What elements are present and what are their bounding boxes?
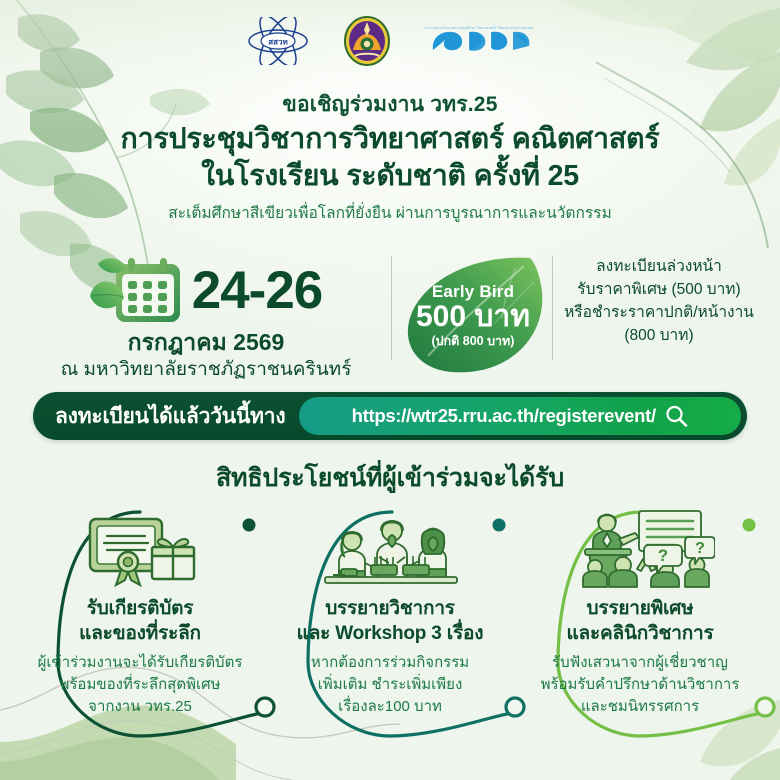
registration-note-line2: รับราคาพิเศษ (500 บาท): [545, 279, 773, 302]
benefit-card-title: รับเกียรติบัตร และของที่ระลึก: [16, 597, 264, 646]
registration-url-pill[interactable]: https://wtr25.rru.ac.th/registerevent/: [299, 397, 741, 435]
event-details-row: 24-26 กรกฎาคม 2569 ณ มหาวิทยาลัยราชภัฏรา…: [0, 250, 780, 382]
magnifier-icon[interactable]: [664, 404, 689, 429]
page-title-line2: ในโรงเรียน ระดับชาติ ครั้งที่ 25: [0, 158, 780, 195]
benefits-heading: สิทธิประโยชน์ที่ผู้เข้าร่วมจะได้รับ: [0, 458, 780, 498]
event-date-block: 24-26 กรกฎาคม 2569 ณ มหาวิทยาลัยราชภัฏรา…: [26, 250, 386, 382]
benefit-card-title: บรรยายพิเศษ และคลินิกวิชาการ: [516, 597, 764, 646]
benefit-card-certificate: รับเกียรติบัตร และของที่ระลึก ผู้เข้าร่ว…: [16, 505, 264, 718]
header-block: ขอเชิญร่วมงาน วทร.25 การประชุมวิชาการวิท…: [0, 92, 780, 225]
benefit-card-lecture: ? ? บรรยายพิเศษ และคลินิกวิชาการ รับฟังเ…: [516, 505, 764, 718]
page-subtitle: สะเต็มศึกษาสีเขียวเพื่อโลกที่ยั่งยืน ผ่า…: [0, 203, 780, 225]
benefit-card-body-line1: รับฟังเสวนาจากผู้เชี่ยวชาญ: [522, 652, 758, 674]
students-workshop-icon: [315, 507, 465, 589]
event-venue: ณ มหาวิทยาลัยราชภัฏราชนครินทร์: [26, 359, 386, 382]
logo-row: สสวท สำนักงานสภานโยบายก: [0, 16, 780, 66]
event-month-year: กรกฎาคม 2569: [26, 330, 386, 355]
question-mark-1: ?: [658, 546, 668, 565]
registration-url-text: https://wtr25.rru.ac.th/registerevent/: [352, 405, 656, 427]
registration-note-line4: (800 บาท): [545, 325, 773, 348]
registration-note-line3: หรือชำระราคาปกติ/หน้างาน: [545, 302, 773, 325]
poster-canvas: สสวท สำนักงานสภานโยบายก: [0, 0, 780, 780]
benefit-card-body: หากต้องการร่วมกิจกรรม เพิ่มเติม ชำระเพิ่…: [266, 652, 514, 717]
event-date-range: 24-26: [192, 264, 323, 321]
benefit-card-body-line2: เพิ่มเติม ชำระเพิ่มเพียง: [272, 674, 508, 696]
benefits-card-row: รับเกียรติบัตร และของที่ระลึก ผู้เข้าร่ว…: [0, 505, 780, 775]
benefit-card-body: รับฟังเสวนาจากผู้เชี่ยวชาญ พร้อมรับคำปรึ…: [516, 652, 764, 717]
benefit-card-body-line3: และชมนิทรรศการ: [522, 696, 758, 718]
benefit-card-title-line2: และ Workshop 3 เรื่อง: [266, 622, 514, 647]
benefit-card-title-line2: และของที่ระลึก: [16, 622, 264, 647]
benefit-card-title-line1: รับเกียรติบัตร: [16, 597, 264, 622]
rru-seal-logo: [343, 16, 391, 66]
ipst-atom-logo: สสวท: [247, 17, 309, 65]
early-bird-label: Early Bird: [432, 283, 514, 300]
divider-left: [391, 256, 392, 360]
early-bird-note: (ปกติ 800 บาท): [432, 335, 515, 348]
benefit-card-body-line1: หากต้องการร่วมกิจกรรม: [272, 652, 508, 674]
benefit-card-body-line2: พร้อมของที่ระลึกสุดพิเศษ: [22, 674, 258, 696]
benefit-card-body-line3: จากงาน วทร.25: [22, 696, 258, 718]
registration-url-label: ลงทะเบียนได้แล้ววันนี้ทาง: [55, 400, 285, 433]
lecture-audience-icon: ? ?: [565, 507, 715, 589]
calendar-leaf-icon: [90, 250, 186, 334]
registration-note: ลงทะเบียนล่วงหน้า รับราคาพิเศษ (500 บาท)…: [545, 256, 773, 348]
benefit-card-title: บรรยายวิชาการ และ Workshop 3 เรื่อง: [266, 597, 514, 646]
benefit-card-body-line1: ผู้เข้าร่วมงานจะได้รับเกียรติบัตร: [22, 652, 258, 674]
benefit-card-workshop: บรรยายวิชาการ และ Workshop 3 เรื่อง หากต…: [266, 505, 514, 718]
registration-url-bar[interactable]: ลงทะเบียนได้แล้ววันนี้ทาง https://wtr25.…: [33, 392, 747, 440]
benefit-card-body: ผู้เข้าร่วมงานจะได้รับเกียรติบัตร พร้อมข…: [16, 652, 264, 717]
event-kicker: ขอเชิญร่วมงาน วทร.25: [0, 92, 780, 118]
benefit-card-title-line1: บรรยายพิเศษ: [516, 597, 764, 622]
certificate-gift-icon: [80, 509, 200, 589]
nxpo-logo-subtext: สำนักงานสภานโยบายการอุดมศึกษา วิทยาศาสตร…: [425, 25, 533, 31]
benefit-card-body-line3: เรื่องละ100 บาท: [272, 696, 508, 718]
benefit-card-title-line2: และคลินิกวิชาการ: [516, 622, 764, 647]
benefit-card-body-line2: พร้อมรับคำปรึกษาด้านวิชาการ: [522, 674, 758, 696]
early-bird-badge: Early Bird 500 บาท (ปกติ 800 บาท): [398, 252, 548, 374]
benefit-card-title-line1: บรรยายวิชาการ: [266, 597, 514, 622]
page-title-line1: การประชุมวิชาการวิทยาศาสตร์ คณิตศาสตร์: [0, 121, 780, 158]
question-mark-2: ?: [695, 540, 705, 557]
ipst-logo-text: สสวท: [268, 38, 288, 47]
registration-note-line1: ลงทะเบียนล่วงหน้า: [545, 256, 773, 279]
nxpo-logo: สำนักงานสภานโยบายการอุดมศึกษา วิทยาศาสตร…: [425, 20, 533, 62]
early-bird-price: 500 บาท: [416, 301, 530, 333]
